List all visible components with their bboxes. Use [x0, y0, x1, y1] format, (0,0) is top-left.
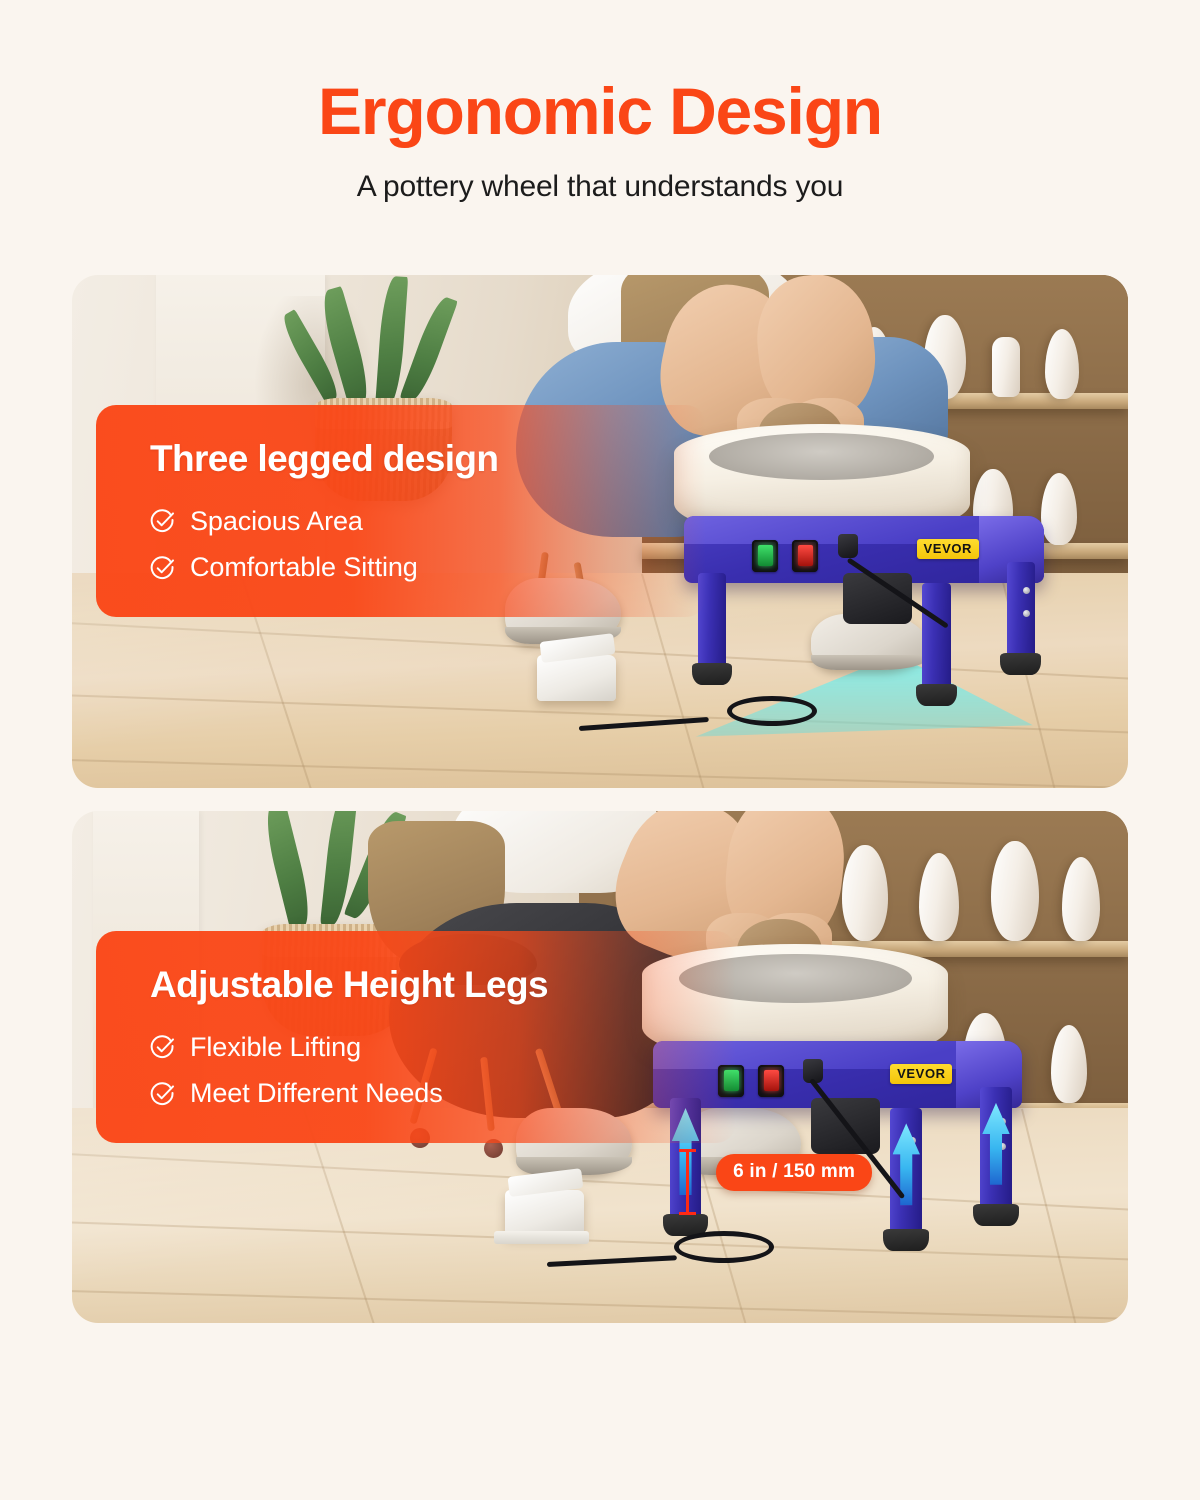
cable-coil	[674, 1231, 774, 1263]
machine-leg-front	[922, 583, 951, 706]
feature-label: Spacious Area	[190, 507, 363, 537]
foot-pedal[interactable]	[505, 1190, 584, 1236]
overlay-feature-list: Spacious Area Comfortable Sitting	[150, 507, 706, 583]
overlay-title: Adjustable Height Legs	[150, 965, 736, 1006]
power-plug	[838, 534, 858, 558]
machine-leg-right	[1007, 562, 1036, 675]
feature-item: Flexible Lifting	[150, 1033, 736, 1063]
feature-label: Flexible Lifting	[190, 1033, 361, 1063]
feature-item: Spacious Area	[150, 507, 706, 537]
power-off-switch[interactable]	[758, 1065, 784, 1097]
measure-badge: 6 in / 150 mm	[716, 1154, 872, 1191]
feature-label: Meet Different Needs	[190, 1079, 443, 1109]
page-header: Ergonomic Design A pottery wheel that un…	[0, 0, 1200, 204]
overlay-panel-adjustable-legs: Adjustable Height Legs Flexible Lifting …	[96, 931, 736, 1143]
power-on-switch[interactable]	[752, 540, 778, 572]
measure-indicator	[686, 1149, 689, 1216]
feature-card-three-legged-design[interactable]: VEVOR Three legged design	[72, 275, 1128, 788]
brand-badge: VEVOR	[890, 1064, 952, 1084]
feature-card-adjustable-height-legs[interactable]: VEVOR 6 in / 150 mm	[72, 811, 1128, 1323]
overlay-panel-three-legged: Three legged design Spacious Area Comfor…	[96, 405, 706, 617]
ceramic-vase	[992, 337, 1020, 397]
check-circle-icon	[150, 1035, 175, 1060]
feature-item: Meet Different Needs	[150, 1079, 736, 1109]
feature-card-list: VEVOR Three legged design	[72, 275, 1128, 1323]
check-circle-icon	[150, 509, 175, 534]
foot-pedal-base	[494, 1231, 589, 1244]
cable-coil	[727, 696, 817, 726]
power-off-switch[interactable]	[792, 540, 818, 572]
overlay-title: Three legged design	[150, 439, 706, 480]
page-title: Ergonomic Design	[0, 78, 1200, 144]
brand-badge: VEVOR	[917, 539, 979, 559]
feature-item: Comfortable Sitting	[150, 553, 706, 583]
check-circle-icon	[150, 556, 175, 581]
check-circle-icon	[150, 1082, 175, 1107]
ceramic-vase	[991, 841, 1039, 941]
page-subtitle: A pottery wheel that understands you	[0, 170, 1200, 204]
feature-label: Comfortable Sitting	[190, 553, 418, 583]
ceramic-vase	[1041, 473, 1077, 545]
overlay-feature-list: Flexible Lifting Meet Different Needs	[150, 1033, 736, 1109]
